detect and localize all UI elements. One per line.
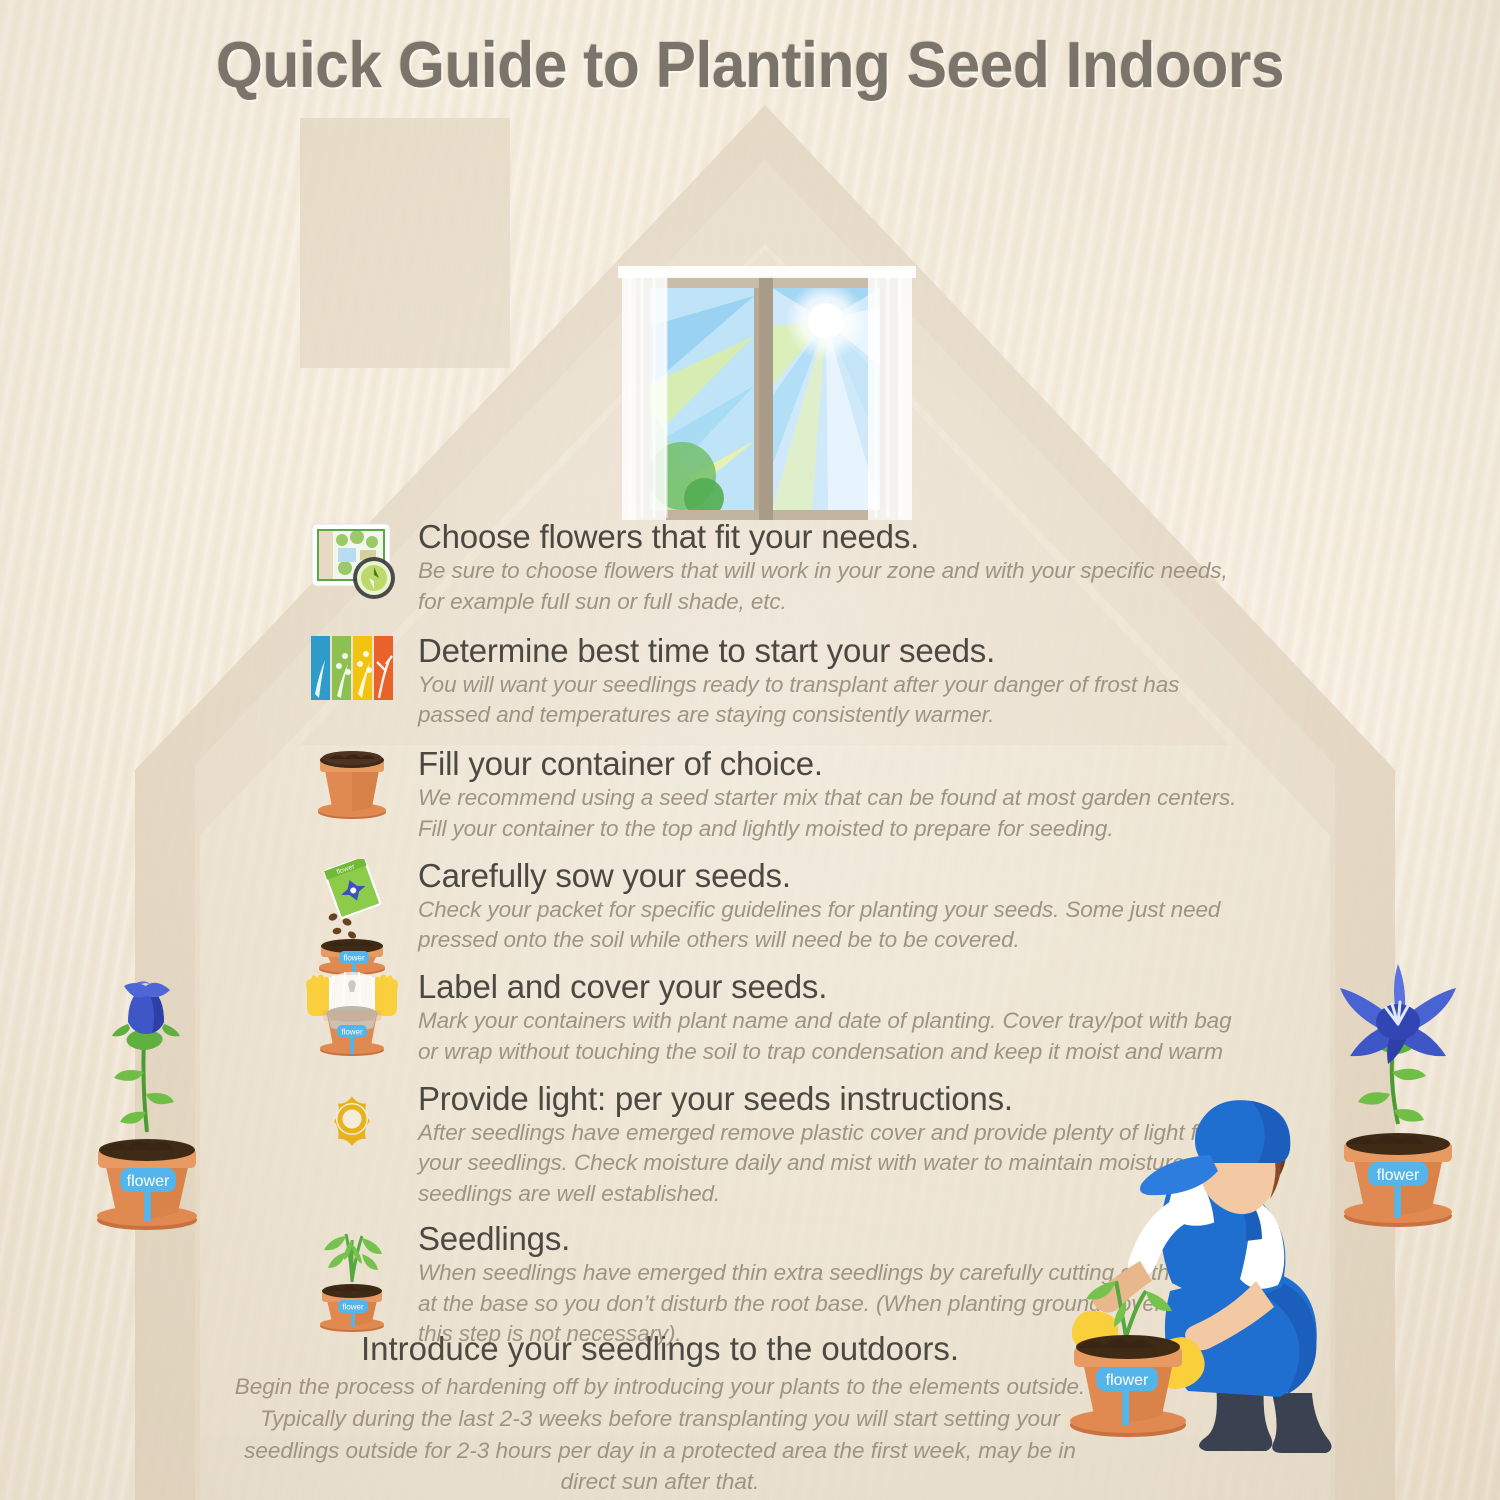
- covered-pot-gloves-icon: flower: [300, 970, 404, 1060]
- sunny-window-icon: [612, 266, 922, 528]
- pot-label: flower: [127, 1173, 170, 1190]
- page-title: Quick Guide to Planting Seed Indoors: [53, 27, 1448, 102]
- step-item: flower Label and cover your seeds. Mark …: [300, 970, 1240, 1068]
- pot-label: flower: [342, 1302, 364, 1311]
- step-body: Mark your containers with plant name and…: [418, 1006, 1240, 1067]
- garden-plan-compass-icon: [300, 520, 404, 602]
- outro-body: Begin the process of hardening off by in…: [230, 1371, 1090, 1499]
- pot-label: flower: [1377, 1167, 1420, 1184]
- step-body: Check your packet for specific guideline…: [418, 895, 1240, 956]
- seed-packet-pot-icon: flower: [300, 859, 404, 975]
- step-heading: Determine best time to start your seeds.: [418, 634, 1240, 668]
- four-seasons-icon: [300, 634, 404, 702]
- potted-blue-bud-flower: flower: [72, 962, 222, 1242]
- step-item: Fill your container of choice. We recomm…: [300, 747, 1240, 845]
- pot-label: flower: [1106, 1372, 1149, 1389]
- outro-heading: Introduce your seedlings to the outdoors…: [230, 1332, 1090, 1367]
- step-body: You will want your seedlings ready to tr…: [418, 670, 1240, 731]
- pot-label: flower: [341, 1028, 363, 1037]
- step-body: Be sure to choose flowers that will work…: [418, 556, 1240, 617]
- step-item: Choose flowers that fit your needs. Be s…: [300, 520, 1240, 618]
- step-heading: Choose flowers that fit your needs.: [418, 520, 1240, 554]
- infographic-poster: Quick Guide to Planting Seed Indoors: [0, 0, 1500, 1500]
- step-heading: Fill your container of choice.: [418, 747, 1240, 781]
- pot-label: flower: [343, 953, 365, 962]
- kneeling-gardener: flower: [1020, 1085, 1372, 1455]
- step-item: flower: [300, 859, 1240, 957]
- step-heading: Carefully sow your seeds.: [418, 859, 1240, 893]
- step-item: Determine best time to start your seeds.…: [300, 634, 1240, 732]
- outro-section: Introduce your seedlings to the outdoors…: [230, 1332, 1090, 1498]
- step-body: We recommend using a seed starter mix th…: [418, 783, 1240, 844]
- step-heading: Label and cover your seeds.: [418, 970, 1240, 1004]
- filled-pot-icon: [300, 747, 404, 821]
- seedlings-pot-icon: flower: [300, 1222, 404, 1334]
- sun-light-icon: [300, 1082, 404, 1152]
